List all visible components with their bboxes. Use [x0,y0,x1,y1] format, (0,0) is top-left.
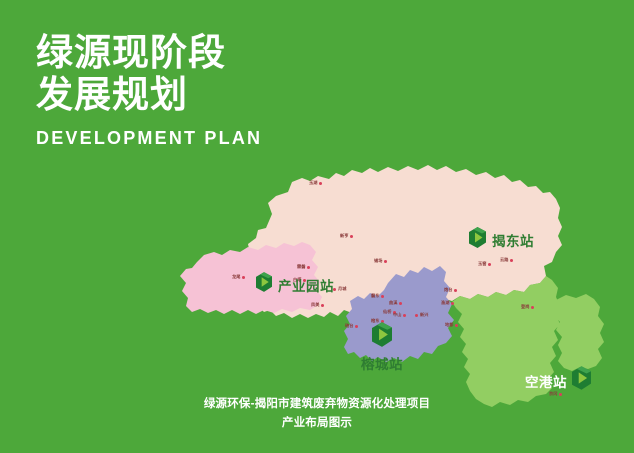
title-line-1: 绿源现阶段 [36,32,366,74]
station-label: 产业园站 [278,275,334,295]
caption-block: 绿源环保-揭阳市建筑废弃物资源化处理项目 产业布局图示 [0,395,634,433]
lvyuan-logo-icon [469,227,486,253]
station-marker-industrial-park[interactable]: 产业园站 [256,272,334,297]
title-block: 绿源现阶段 发展规划 DEVELOPMENT PLAN [36,32,366,149]
presentation-slide: 绿源现阶段 发展规划 DEVELOPMENT PLAN 玉湖 新亨 锡场 云 [0,0,634,453]
caption-line-1: 绿源环保-揭阳市建筑废弃物资源化处理项目 [0,395,634,414]
subtitle: DEVELOPMENT PLAN [36,128,366,149]
station-label: 榕城站 [361,353,403,373]
title-line-2: 发展规划 [36,74,366,116]
station-marker-jiedong[interactable]: 揭东站 [469,227,534,253]
station-label: 空港站 [525,371,567,391]
lvyuan-logo-icon [572,366,591,395]
station-label: 揭东站 [492,230,534,250]
station-marker-airport[interactable]: 空港站 [525,366,591,395]
lvyuan-logo-icon [256,272,272,297]
lvyuan-logo-icon [372,322,392,352]
station-marker-rongcheng[interactable]: 榕城站 [361,322,403,373]
caption-line-2: 产业布局图示 [0,414,634,433]
